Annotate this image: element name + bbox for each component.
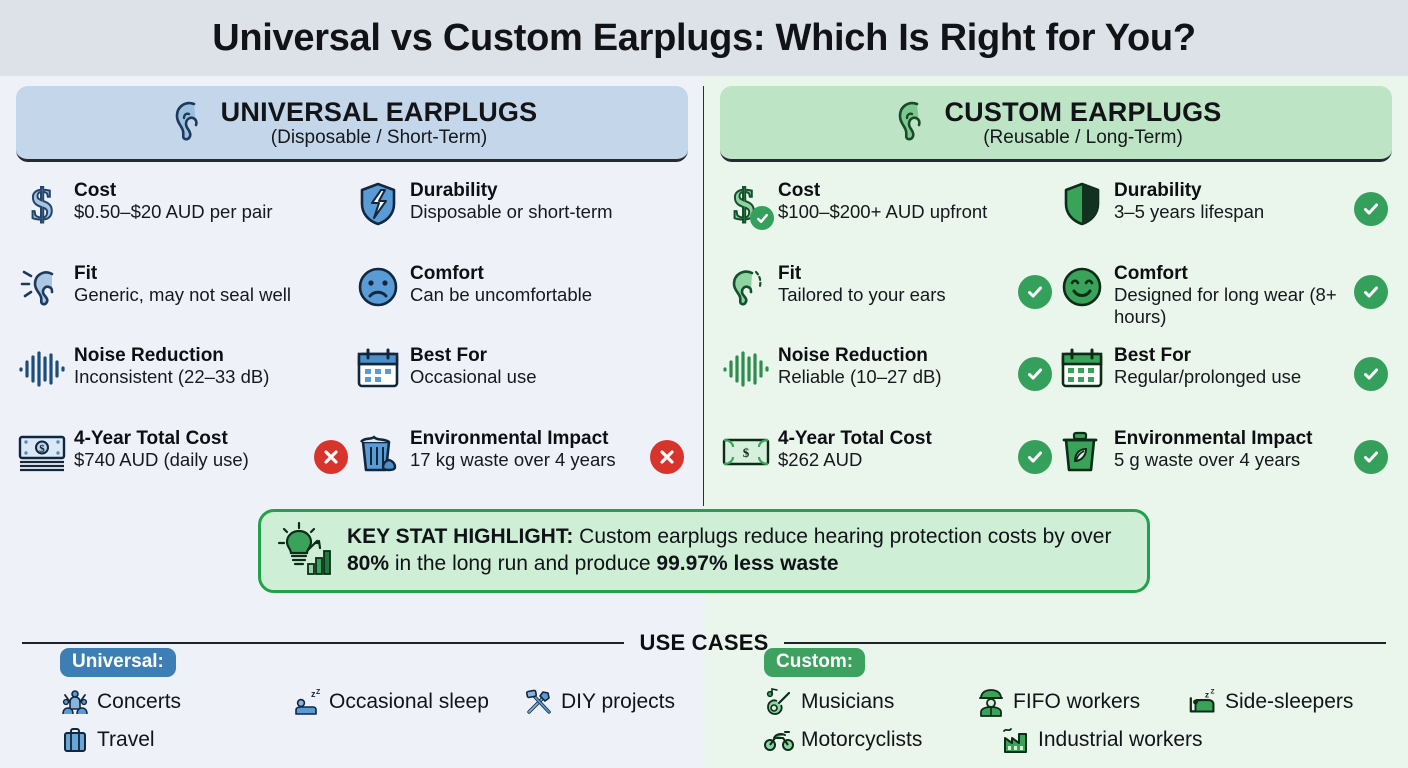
dollar-sign-icon: $ bbox=[720, 178, 772, 230]
list-item: FIFO workers bbox=[976, 683, 1166, 721]
calendar-icon bbox=[1056, 343, 1108, 395]
cross-icon bbox=[314, 440, 348, 474]
key-stat-value-2: 99.97% less waste bbox=[656, 552, 838, 575]
check-icon bbox=[750, 206, 774, 230]
check-icon bbox=[1018, 440, 1052, 474]
feature-label: Cost bbox=[74, 180, 116, 201]
feature-comfort: Comfort Designed for long wear (8+ hours… bbox=[1056, 255, 1392, 338]
list-item-label: Concerts bbox=[97, 690, 181, 714]
feature-label: Best For bbox=[1114, 345, 1191, 366]
banknote-icon: $ bbox=[16, 426, 68, 478]
dollar-sign-icon: $ bbox=[16, 178, 68, 230]
feature-label: Fit bbox=[74, 263, 97, 284]
check-icon bbox=[1018, 357, 1052, 391]
status-badge bbox=[1354, 275, 1388, 309]
status-badge bbox=[1018, 440, 1052, 474]
status-badge bbox=[1354, 357, 1388, 391]
status-badge bbox=[1354, 192, 1388, 226]
list-item: Motorcyclists bbox=[764, 721, 979, 759]
feature-value: $0.50–$20 AUD per pair bbox=[74, 201, 273, 222]
feature-value: Inconsistent (22–33 dB) bbox=[74, 366, 269, 387]
shield-crack-icon bbox=[352, 178, 404, 230]
list-item-label: Motorcyclists bbox=[801, 728, 922, 752]
custom-column: CUSTOM EARPLUGS (Reusable / Long-Term) $ bbox=[704, 76, 1408, 508]
svg-text:z: z bbox=[1205, 689, 1209, 699]
comparison-section: UNIVERSAL EARPLUGS (Disposable / Short-T… bbox=[0, 76, 1408, 508]
check-icon bbox=[1354, 440, 1388, 474]
feature-label: Best For bbox=[410, 345, 487, 366]
key-stat-highlight: KEY STAT HIGHLIGHT: Custom earplugs redu… bbox=[258, 509, 1150, 593]
feature-comfort: Comfort Can be uncomfortable bbox=[352, 255, 688, 338]
list-item: z Z Side-sleepers bbox=[1188, 683, 1403, 721]
universal-subtitle: (Disposable / Short-Term) bbox=[271, 127, 487, 149]
feature-label: Fit bbox=[778, 263, 801, 284]
svg-text:Z: Z bbox=[1211, 689, 1215, 696]
svg-text:Z: Z bbox=[316, 689, 321, 696]
feature-noise-reduction: Noise Reduction Reliable (10–27 dB) bbox=[720, 337, 1056, 420]
list-item: DIY projects bbox=[524, 683, 675, 721]
lightbulb-chart-icon bbox=[275, 518, 337, 585]
custom-column-header: CUSTOM EARPLUGS (Reusable / Long-Term) bbox=[720, 86, 1392, 162]
universal-feature-grid: $ Cost $0.50–$20 AUD per pair bbox=[16, 172, 688, 502]
universal-use-case-list: Concerts z Z Occasional sleep bbox=[60, 683, 704, 759]
feature-value: $100–$200+ AUD upfront bbox=[778, 201, 987, 222]
page-header: Universal vs Custom Earplugs: Which Is R… bbox=[0, 0, 1408, 76]
use-cases-section: USE CASES Universal: bbox=[0, 600, 1408, 768]
check-icon bbox=[1354, 357, 1388, 391]
feature-value: 5 g waste over 4 years bbox=[1114, 449, 1300, 470]
list-item-label: FIFO workers bbox=[1013, 690, 1140, 714]
feature-label: Noise Reduction bbox=[74, 345, 224, 366]
check-icon bbox=[1354, 275, 1388, 309]
universal-title: UNIVERSAL EARPLUGS bbox=[221, 97, 538, 128]
list-item: Concerts bbox=[60, 683, 270, 721]
motorcycle-icon bbox=[764, 725, 794, 755]
use-cases-custom: Custom: Musicians bbox=[704, 648, 1408, 768]
feature-label: Comfort bbox=[1114, 263, 1188, 284]
feature-label: Durability bbox=[1114, 180, 1202, 201]
sleeping-person-icon: z Z bbox=[292, 687, 322, 717]
happy-face-icon bbox=[1056, 261, 1108, 313]
feature-environmental-impact: Environmental Impact 5 g waste over 4 ye… bbox=[1056, 420, 1392, 503]
feature-value: Occasional use bbox=[410, 366, 536, 387]
list-item-label: DIY projects bbox=[561, 690, 675, 714]
feature-label: 4-Year Total Cost bbox=[778, 428, 932, 449]
feature-value: $740 AUD (daily use) bbox=[74, 449, 249, 470]
feature-value: Regular/prolonged use bbox=[1114, 366, 1301, 387]
trash-leaf-icon bbox=[1056, 426, 1108, 478]
status-badge bbox=[650, 440, 684, 474]
universal-column: UNIVERSAL EARPLUGS (Disposable / Short-T… bbox=[0, 76, 704, 508]
tools-icon bbox=[524, 687, 554, 717]
list-item-label: Side-sleepers bbox=[1225, 690, 1353, 714]
custom-subtitle: (Reusable / Long-Term) bbox=[983, 127, 1183, 149]
list-item: Musicians bbox=[764, 683, 954, 721]
list-item-label: Musicians bbox=[801, 690, 894, 714]
feature-four-year-cost: $ 4-Year Total Cost $740 AUD (daily use) bbox=[16, 420, 352, 503]
waveform-icon bbox=[16, 343, 68, 395]
feature-value: Can be uncomfortable bbox=[410, 284, 592, 305]
custom-tag: Custom: bbox=[764, 648, 865, 677]
waveform-icon bbox=[720, 343, 772, 395]
feature-best-for: Best For Occasional use bbox=[352, 337, 688, 420]
concert-crowd-icon bbox=[60, 687, 90, 717]
calendar-icon bbox=[352, 343, 404, 395]
cross-icon bbox=[650, 440, 684, 474]
feature-durability: Durability Disposable or short-term bbox=[352, 172, 688, 255]
list-item-label: Occasional sleep bbox=[329, 690, 489, 714]
check-icon bbox=[1018, 275, 1052, 309]
feature-value: 17 kg waste over 4 years bbox=[410, 449, 616, 470]
list-item: z Z Occasional sleep bbox=[292, 683, 502, 721]
use-cases-universal: Universal: Concerts bbox=[0, 648, 704, 768]
list-item-label: Travel bbox=[97, 728, 155, 752]
svg-text:$: $ bbox=[39, 443, 45, 455]
feature-value: $262 AUD bbox=[778, 449, 862, 470]
feature-best-for: Best For Regular/prolonged use bbox=[1056, 337, 1392, 420]
universal-column-header: UNIVERSAL EARPLUGS (Disposable / Short-T… bbox=[16, 86, 688, 162]
status-badge bbox=[314, 440, 348, 474]
feature-label: Durability bbox=[410, 180, 498, 201]
ear-icon bbox=[890, 98, 930, 147]
sad-face-icon bbox=[352, 261, 404, 313]
ear-molded-icon bbox=[720, 261, 772, 313]
factory-icon bbox=[1001, 725, 1031, 755]
feature-label: Environmental Impact bbox=[410, 428, 609, 449]
feature-label: Noise Reduction bbox=[778, 345, 928, 366]
feature-value: Reliable (10–27 dB) bbox=[778, 366, 942, 387]
feature-fit: Fit Tailored to your ears bbox=[720, 255, 1056, 338]
universal-tag: Universal: bbox=[60, 648, 176, 677]
feature-fit: Fit Generic, may not seal well bbox=[16, 255, 352, 338]
custom-use-case-list: Musicians FIFO workers bbox=[764, 683, 1408, 759]
feature-durability: Durability 3–5 years lifespan bbox=[1056, 172, 1392, 255]
list-item: Industrial workers bbox=[1001, 721, 1203, 759]
hardhat-worker-icon bbox=[976, 687, 1006, 717]
divider-line-right bbox=[784, 642, 1386, 644]
infographic-page: Universal vs Custom Earplugs: Which Is R… bbox=[0, 0, 1408, 768]
key-stat-text-2: in the long run and produce bbox=[389, 552, 656, 575]
feature-value: 3–5 years lifespan bbox=[1114, 201, 1264, 222]
check-icon bbox=[1354, 192, 1388, 226]
feature-value: Designed for long wear (8+ hours) bbox=[1114, 284, 1337, 327]
page-title: Universal vs Custom Earplugs: Which Is R… bbox=[212, 17, 1196, 60]
feature-label: Environmental Impact bbox=[1114, 428, 1313, 449]
feature-cost: $ Cost $100–$200+ AUD upfront bbox=[720, 172, 1056, 255]
list-item: Travel bbox=[60, 721, 155, 759]
feature-value: Generic, may not seal well bbox=[74, 284, 291, 305]
divider-line-left bbox=[22, 642, 624, 644]
status-badge bbox=[1018, 357, 1052, 391]
svg-text:$: $ bbox=[31, 181, 53, 227]
custom-title: CUSTOM EARPLUGS bbox=[944, 97, 1221, 128]
bed-sleep-icon: z Z bbox=[1188, 687, 1218, 717]
feature-environmental-impact: Environmental Impact 17 kg waste over 4 … bbox=[352, 420, 688, 503]
banknote-icon: $ bbox=[720, 426, 772, 478]
key-stat-lead: KEY STAT HIGHLIGHT: bbox=[347, 525, 573, 548]
guitar-music-icon bbox=[764, 687, 794, 717]
feature-label: Comfort bbox=[410, 263, 484, 284]
status-badge bbox=[1018, 275, 1052, 309]
feature-value: Tailored to your ears bbox=[778, 284, 946, 305]
suitcase-icon bbox=[60, 725, 90, 755]
feature-noise-reduction: Noise Reduction Inconsistent (22–33 dB) bbox=[16, 337, 352, 420]
feature-four-year-cost: $ 4-Year Total Cost $262 AUD bbox=[720, 420, 1056, 503]
feature-label: Cost bbox=[778, 180, 820, 201]
svg-text:$: $ bbox=[743, 445, 750, 460]
feature-cost: $ Cost $0.50–$20 AUD per pair bbox=[16, 172, 352, 255]
feature-label: 4-Year Total Cost bbox=[74, 428, 228, 449]
custom-feature-grid: $ Cost $100–$200+ AUD upfront bbox=[720, 172, 1392, 502]
ear-icon bbox=[167, 98, 207, 147]
ear-generic-icon bbox=[16, 261, 68, 313]
status-badge bbox=[1354, 440, 1388, 474]
list-item-label: Industrial workers bbox=[1038, 728, 1203, 752]
key-stat-text-1: Custom earplugs reduce hearing protectio… bbox=[573, 525, 1111, 548]
key-stat-text: KEY STAT HIGHLIGHT: Custom earplugs redu… bbox=[347, 524, 1133, 578]
shield-solid-icon bbox=[1056, 178, 1108, 230]
trash-full-icon bbox=[352, 426, 404, 478]
key-stat-value-1: 80% bbox=[347, 552, 389, 575]
feature-value: Disposable or short-term bbox=[410, 201, 613, 222]
